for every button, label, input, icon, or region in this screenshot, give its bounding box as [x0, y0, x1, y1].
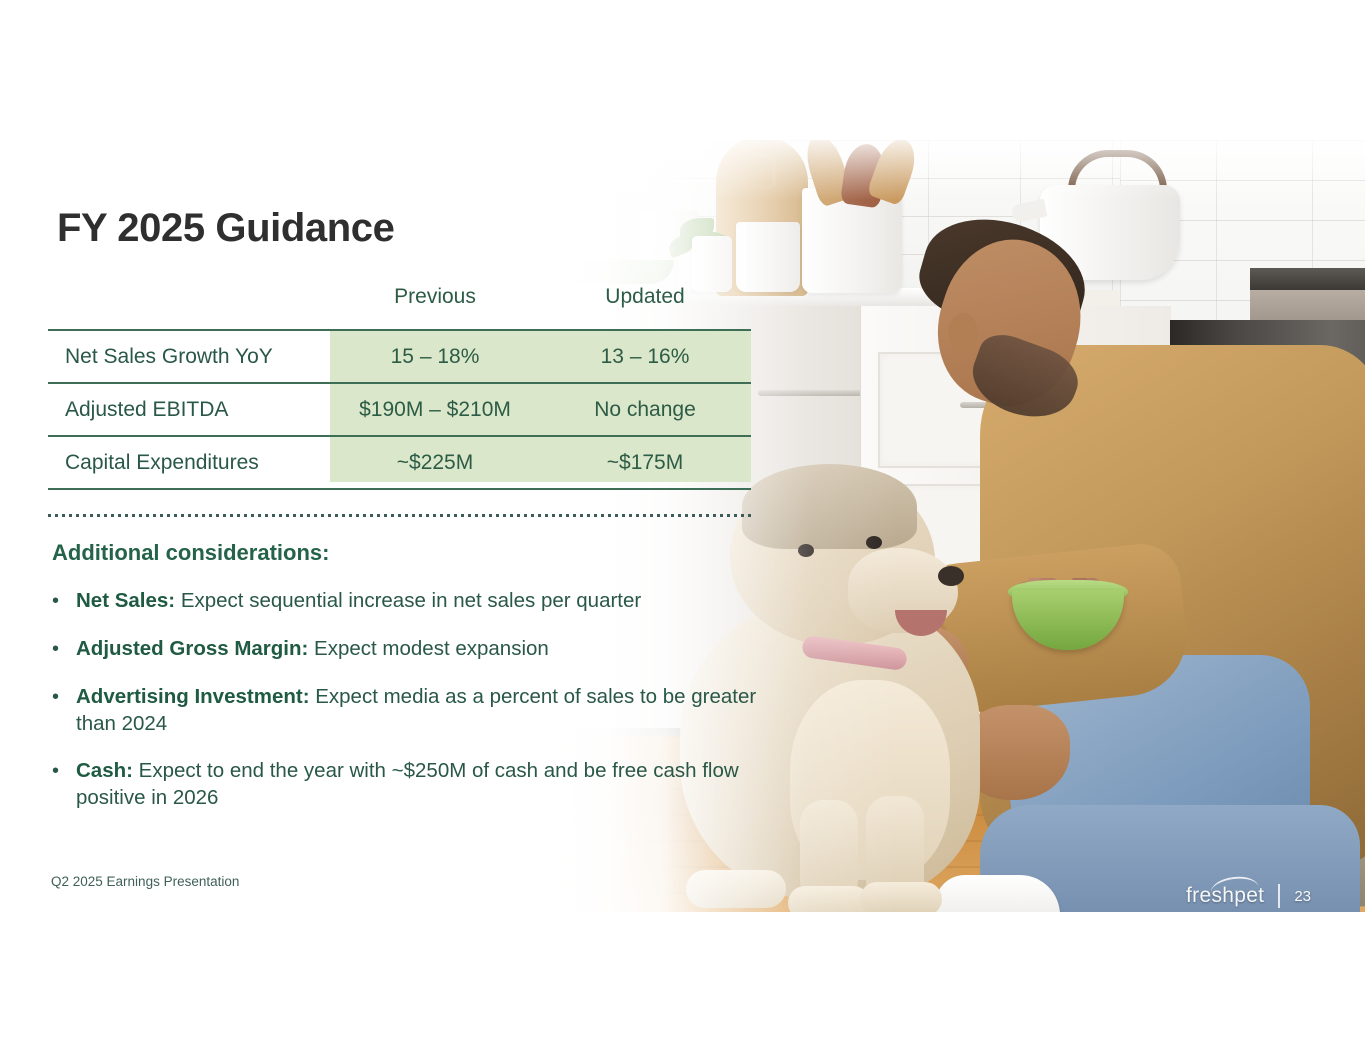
bullet-dot-icon: •	[52, 588, 76, 615]
row-label: Net Sales Growth YoY	[48, 345, 330, 369]
list-item: • Advertising Investment: Expect media a…	[52, 684, 762, 738]
list-item-body: Expect modest expansion	[308, 637, 548, 660]
row-previous-value: 15 – 18%	[330, 345, 540, 369]
row-updated-value: No change	[540, 398, 750, 422]
sugar-jar	[736, 222, 800, 292]
list-item-label: Advertising Investment:	[76, 685, 310, 708]
table-header-row: Previous Updated	[48, 285, 751, 329]
dog-hind-paw	[686, 870, 786, 908]
dog-nose	[938, 566, 964, 586]
list-item-text: Advertising Investment: Expect media as …	[76, 684, 762, 738]
dog-eye	[866, 536, 882, 549]
row-updated-value: 13 – 16%	[540, 345, 750, 369]
bullet-dot-icon: •	[52, 684, 76, 738]
list-item-label: Cash:	[76, 759, 133, 782]
additional-considerations: Additional considerations: • Net Sales: …	[52, 540, 762, 833]
table-row: Adjusted EBITDA $190M – $210M No change	[48, 382, 751, 435]
row-previous-value: ~$225M	[330, 451, 540, 475]
ear	[948, 313, 978, 353]
cutting-board-hole	[752, 154, 776, 190]
list-item-body: Expect to end the year with ~$250M of ca…	[76, 759, 739, 809]
dog-head-top	[742, 464, 917, 549]
list-item-text: Adjusted Gross Margin: Expect modest exp…	[76, 636, 549, 663]
row-label: Capital Expenditures	[48, 451, 330, 475]
small-jar	[692, 236, 732, 292]
table-row: Capital Expenditures ~$225M ~$175M	[48, 435, 751, 488]
green-bowl	[560, 260, 674, 284]
list-item-text: Net Sales: Expect sequential increase in…	[76, 588, 641, 615]
considerations-heading: Additional considerations:	[52, 540, 762, 566]
footer-note: Q2 2025 Earnings Presentation	[51, 874, 239, 889]
page-title: FY 2025 Guidance	[57, 206, 394, 251]
bullet-dot-icon: •	[52, 636, 76, 663]
dog-paw	[860, 882, 942, 912]
table-row: Net Sales Growth YoY 15 – 18% 13 – 16%	[48, 329, 751, 382]
row-label: Adjusted EBITDA	[48, 398, 330, 422]
list-item-label: Net Sales:	[76, 589, 175, 612]
dotted-divider	[48, 514, 751, 517]
table-header-previous: Previous	[330, 285, 540, 309]
list-item: • Cash: Expect to end the year with ~$25…	[52, 758, 762, 812]
list-item: • Adjusted Gross Margin: Expect modest e…	[52, 636, 762, 663]
row-previous-value: $190M – $210M	[330, 398, 540, 422]
brand-separator	[1278, 884, 1280, 908]
list-item-body: Expect sequential increase in net sales …	[175, 589, 641, 612]
slide: FY 2025 Guidance Previous Updated Net Sa…	[0, 0, 1365, 1055]
list-item-label: Adjusted Gross Margin:	[76, 637, 308, 660]
list-item: • Net Sales: Expect sequential increase …	[52, 588, 762, 615]
dog-eye	[798, 544, 814, 557]
brand-footer: freshpet 23	[1186, 884, 1311, 908]
table-header-updated: Updated	[540, 285, 750, 309]
list-item-text: Cash: Expect to end the year with ~$250M…	[76, 758, 762, 812]
row-updated-value: ~$175M	[540, 451, 750, 475]
page-number: 23	[1294, 888, 1311, 905]
freshpet-logo: freshpet	[1186, 884, 1264, 908]
cabinet-handle	[758, 390, 868, 396]
bullet-dot-icon: •	[52, 758, 76, 812]
table-bottom-rule	[48, 488, 751, 490]
guidance-table: Previous Updated Net Sales Growth YoY 15…	[48, 285, 751, 490]
dog-paw	[788, 886, 870, 912]
